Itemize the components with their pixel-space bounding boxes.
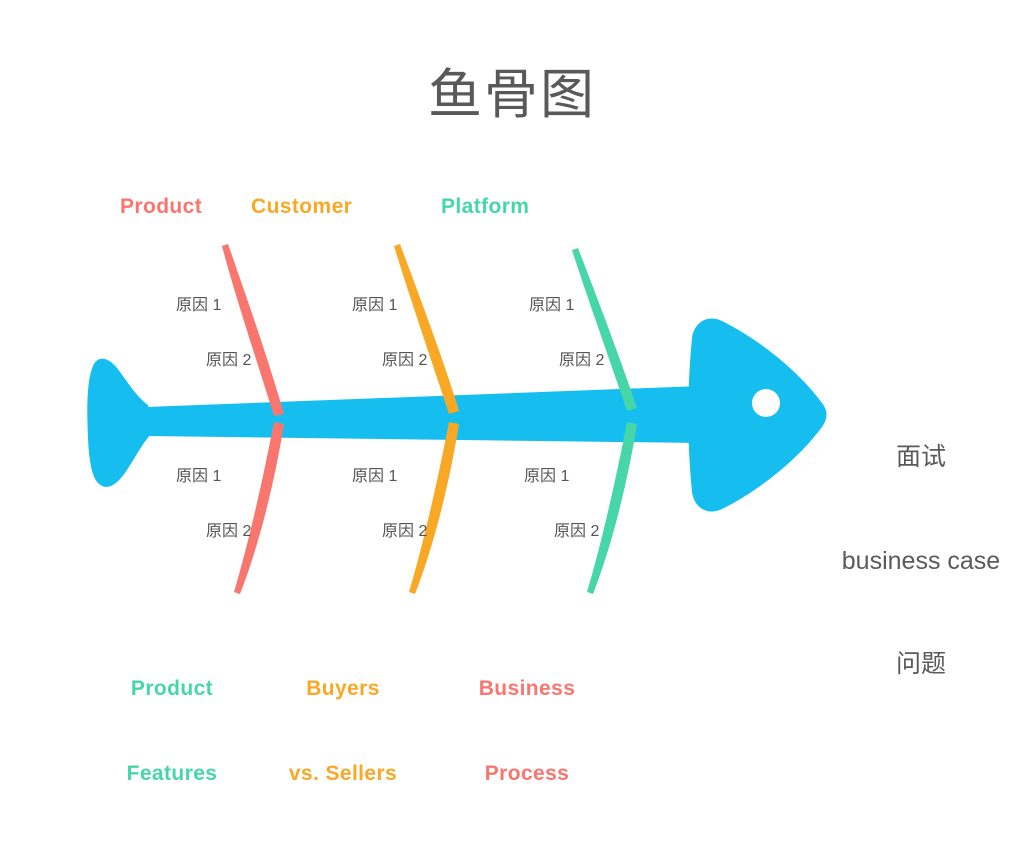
bone-2-lower: [409, 422, 459, 594]
category-bottom-label-product-features[interactable]: Product Features: [92, 618, 252, 845]
effect-line-2: business case: [818, 544, 1024, 579]
category-top-label-customer[interactable]: Customer: [251, 195, 352, 220]
category-bottom-product-features-line2: Features: [92, 760, 252, 788]
cause-top-3-2[interactable]: 原因 2: [559, 352, 604, 371]
cause-top-1-2[interactable]: 原因 2: [206, 352, 251, 371]
effect-statement: 面试 business case 问题: [818, 371, 1024, 751]
category-bottom-buyers-line1: Buyers: [263, 675, 423, 703]
effect-line-3: 问题: [818, 647, 1024, 682]
fish-tail: [87, 359, 152, 487]
category-top-label-platform[interactable]: Platform: [441, 195, 529, 220]
bone-3-upper: [572, 248, 637, 411]
cause-bottom-2-2[interactable]: 原因 2: [382, 523, 427, 542]
category-bottom-label-buyers-vs-sellers[interactable]: Buyers vs. Sellers: [263, 618, 423, 845]
cause-top-3-1[interactable]: 原因 1: [529, 297, 574, 316]
fish-spine: [146, 386, 700, 443]
bone-2-upper: [394, 244, 459, 414]
category-bottom-buyers-line2: vs. Sellers: [263, 760, 423, 788]
cause-top-1-1[interactable]: 原因 1: [176, 297, 221, 316]
category-bottom-product-features-line1: Product: [92, 675, 252, 703]
bone-3-lower: [587, 422, 637, 594]
fishbone-diagram-canvas: 鱼骨图 面试 business case 问题 Product Customer…: [0, 0, 1024, 768]
cause-top-2-2[interactable]: 原因 2: [382, 352, 427, 371]
category-bottom-business-line1: Business: [447, 675, 607, 703]
category-bottom-label-business-process[interactable]: Business Process: [447, 618, 607, 845]
bone-1-upper: [222, 244, 284, 416]
fish-head: [688, 318, 826, 511]
category-bottom-business-line2: Process: [447, 760, 607, 788]
cause-bottom-1-2[interactable]: 原因 2: [206, 523, 251, 542]
cause-bottom-2-1[interactable]: 原因 1: [352, 468, 397, 487]
bone-1-lower: [234, 422, 284, 594]
cause-bottom-3-1[interactable]: 原因 1: [524, 468, 569, 487]
fish-eye: [752, 389, 780, 417]
cause-bottom-1-1[interactable]: 原因 1: [176, 468, 221, 487]
category-top-label-product[interactable]: Product: [120, 195, 202, 220]
cause-bottom-3-2[interactable]: 原因 2: [554, 523, 599, 542]
cause-top-2-1[interactable]: 原因 1: [352, 297, 397, 316]
effect-line-1: 面试: [818, 440, 1024, 475]
page-title: 鱼骨图: [0, 64, 1024, 128]
